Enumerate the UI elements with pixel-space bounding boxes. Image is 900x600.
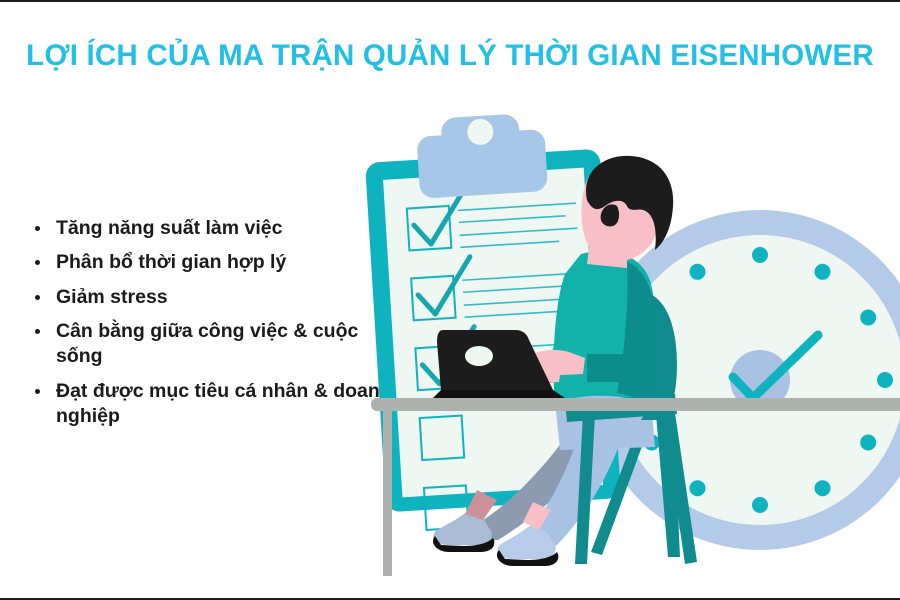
- clock-hour-marker: [815, 480, 831, 496]
- ear: [616, 209, 638, 231]
- illustration-person-at-desk: [355, 102, 900, 592]
- page-title: LỢI ÍCH CỦA MA TRẬN QUẢN LÝ THỜI GIAN EI…: [0, 40, 900, 72]
- clock-hour-marker: [877, 372, 893, 388]
- arm-shadow: [587, 354, 627, 382]
- desk-top: [371, 398, 900, 411]
- benefits-list: Tăng năng suất làm việc Phân bổ thời gia…: [34, 216, 394, 438]
- desk-leg-left: [383, 408, 392, 576]
- clock-hour-marker: [690, 264, 706, 280]
- clock-hour-marker: [690, 480, 706, 496]
- list-item: Cân bằng giữa công việc & cuộc sống: [34, 319, 394, 370]
- clock-hour-marker: [815, 264, 831, 280]
- clock-hour-marker: [752, 497, 768, 513]
- clock-hour-marker: [860, 310, 876, 326]
- poster-canvas: LỢI ÍCH CỦA MA TRẬN QUẢN LÝ THỜI GIAN EI…: [0, 0, 900, 600]
- clipboard-clip: [415, 112, 548, 199]
- benefit-label: Giảm stress: [56, 286, 168, 308]
- laptop-logo: [465, 346, 493, 366]
- clock-hour-marker: [752, 247, 768, 263]
- list-item: Phân bổ thời gian hợp lý: [34, 250, 394, 275]
- benefit-label: Đạt được mục tiêu cá nhân & doanh nghiệp: [56, 380, 392, 427]
- benefit-label: Phân bổ thời gian hợp lý: [56, 251, 286, 273]
- list-item: Đạt được mục tiêu cá nhân & doanh nghiệp: [34, 379, 394, 430]
- benefit-label: Tăng năng suất làm việc: [56, 217, 282, 239]
- list-item: Giảm stress: [34, 285, 394, 310]
- benefit-label: Cân bằng giữa công việc & cuộc sống: [56, 320, 358, 367]
- list-item: Tăng năng suất làm việc: [34, 216, 394, 241]
- clock-hour-marker: [860, 435, 876, 451]
